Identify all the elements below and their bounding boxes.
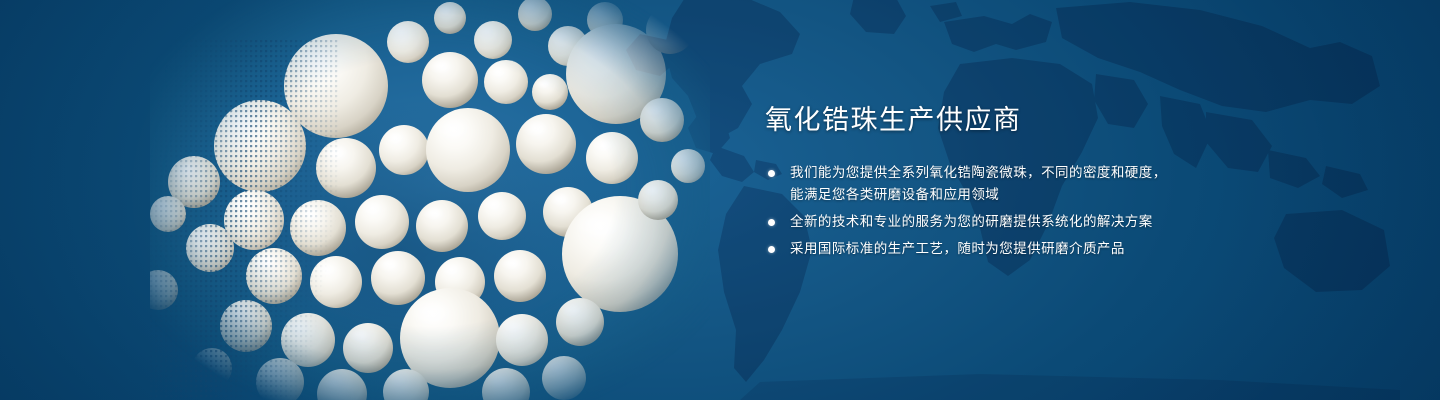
- list-item: 全新的技术和专业的服务为您的研磨提供系统化的解决方案: [765, 211, 1365, 233]
- list-item-line: 全新的技术和专业的服务为您的研磨提供系统化的解决方案: [790, 211, 1365, 233]
- photo-backdrop: [150, 0, 710, 400]
- list-item-line: 我们能为您提供全系列氧化锆陶瓷微珠，不同的密度和硬度，: [790, 162, 1365, 184]
- bead-cluster: [150, 0, 710, 400]
- dot-bullet-icon: [768, 170, 775, 177]
- dot-bullet-icon: [768, 219, 775, 226]
- list-item: 我们能为您提供全系列氧化锆陶瓷微珠，不同的密度和硬度， 能满足您各类研磨设备和应…: [765, 162, 1365, 206]
- list-item-line: 采用国际标准的生产工艺，随时为您提供研磨介质产品: [790, 238, 1365, 260]
- banner-content: 氧化锆珠生产供应商 我们能为您提供全系列氧化锆陶瓷微珠，不同的密度和硬度， 能满…: [765, 104, 1365, 260]
- zirconia-beads-photo: [150, 0, 710, 400]
- feature-list: 我们能为您提供全系列氧化锆陶瓷微珠，不同的密度和硬度， 能满足您各类研磨设备和应…: [765, 162, 1365, 260]
- page-title: 氧化锆珠生产供应商: [765, 104, 1365, 136]
- hero-banner: 氧化锆珠生产供应商 我们能为您提供全系列氧化锆陶瓷微珠，不同的密度和硬度， 能满…: [0, 0, 1440, 400]
- list-item-line: 能满足您各类研磨设备和应用领域: [790, 184, 1365, 206]
- list-item: 采用国际标准的生产工艺，随时为您提供研磨介质产品: [765, 238, 1365, 260]
- dot-bullet-icon: [768, 246, 775, 253]
